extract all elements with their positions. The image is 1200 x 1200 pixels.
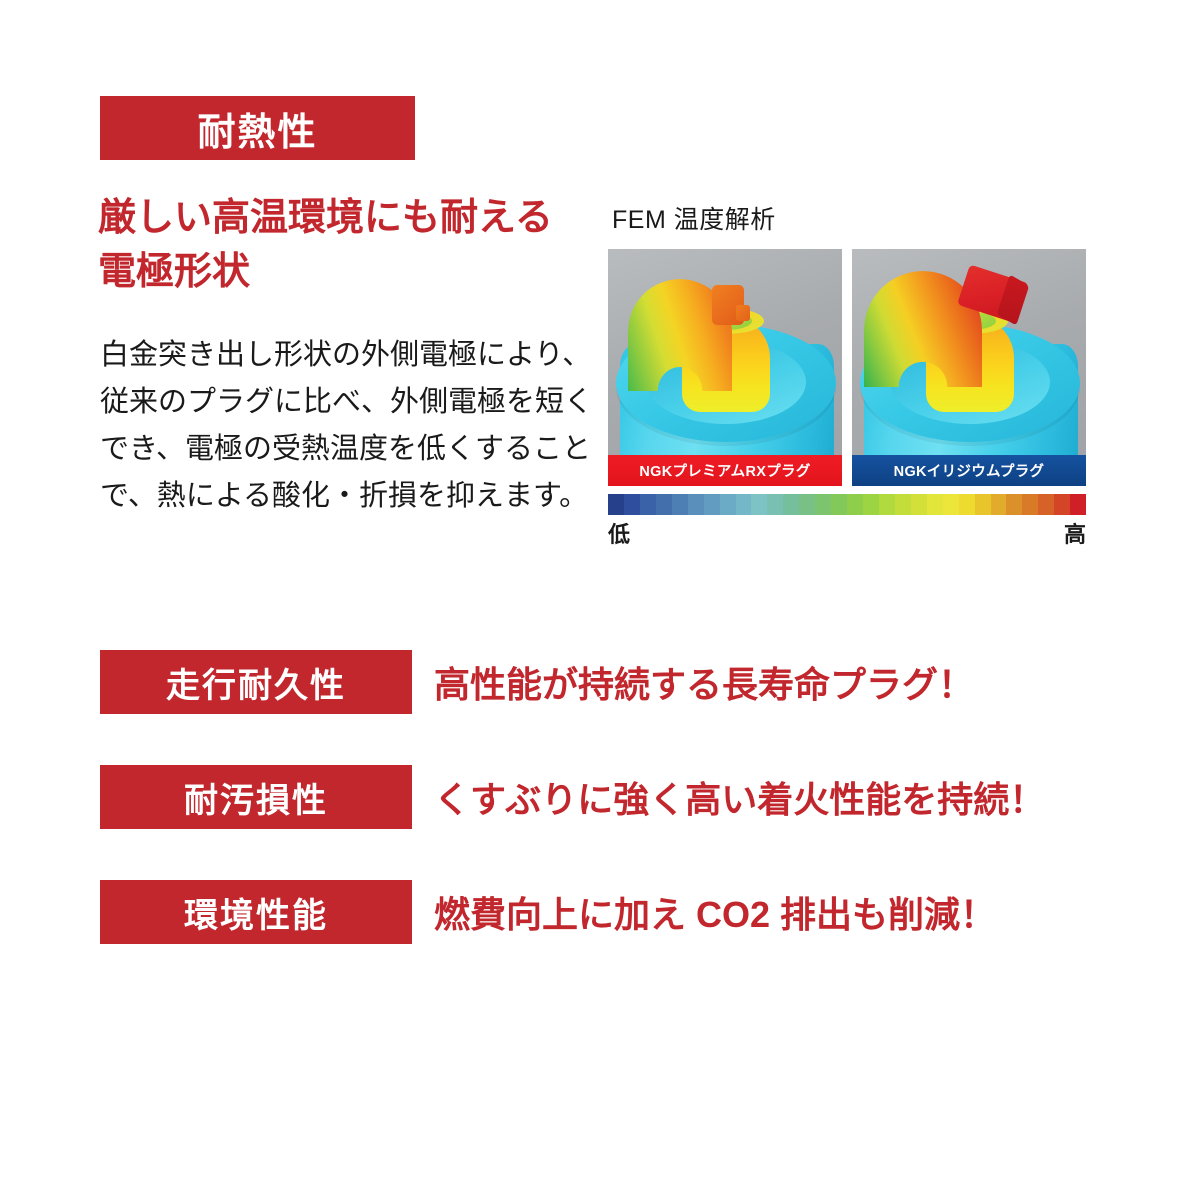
ground-electrode-nub-icon — [736, 305, 750, 321]
fem-panel-premium-rx: NGKプレミアムRXプラグ — [608, 249, 842, 486]
color-scale-segment-6 — [704, 494, 720, 515]
badge-durability: 走行耐久性 — [100, 650, 412, 714]
color-scale-segment-15 — [847, 494, 863, 515]
color-scale-segment-26 — [1022, 494, 1038, 515]
feature-row-environmental: 環境性能 燃費向上に加え CO2 排出も削減！ — [100, 880, 1060, 944]
badge-heat-resistance: 耐熱性 — [100, 96, 415, 160]
color-scale-segment-4 — [672, 494, 688, 515]
color-scale-segment-14 — [831, 494, 847, 515]
fem-analysis-block: FEM 温度解析 NGKプレミアムRXプラグ — [608, 200, 1086, 549]
color-scale-segment-1 — [624, 494, 640, 515]
color-scale-segment-25 — [1006, 494, 1022, 515]
color-scale-segment-7 — [720, 494, 736, 515]
section-heading: 厳しい高温環境にも耐える 電極形状 — [98, 192, 568, 300]
color-scale-segment-11 — [783, 494, 799, 515]
color-scale-segment-28 — [1054, 494, 1070, 515]
color-scale-segment-3 — [656, 494, 672, 515]
scale-label-low: 低 — [608, 517, 630, 549]
color-scale-segment-10 — [767, 494, 783, 515]
color-scale-segment-16 — [863, 494, 879, 515]
feature-row-durability: 走行耐久性 高性能が持続する長寿命プラグ！ — [100, 650, 1060, 714]
badge-environmental: 環境性能 — [100, 880, 412, 944]
section-heading-line-1: 厳しい高温環境にも耐える — [98, 192, 568, 246]
color-scale-segment-18 — [895, 494, 911, 515]
color-scale-segment-23 — [975, 494, 991, 515]
color-scale-segment-2 — [640, 494, 656, 515]
feature-row-fouling-resistance: 耐汚損性 くすぶりに強く高い着火性能を持続！ — [100, 765, 1060, 829]
scale-label-high: 高 — [1064, 517, 1086, 549]
fem-caption-iridium: NGKイリジウムプラグ — [852, 455, 1086, 486]
temperature-color-scale — [608, 494, 1086, 515]
color-scale-segment-24 — [991, 494, 1007, 515]
fem-panel-iridium: NGKイリジウムプラグ — [852, 249, 1086, 486]
color-scale-segment-21 — [943, 494, 959, 515]
color-scale-segment-13 — [815, 494, 831, 515]
color-scale-segment-5 — [688, 494, 704, 515]
badge-fouling-resistance: 耐汚損性 — [100, 765, 412, 829]
temperature-scale-labels: 低 高 — [608, 517, 1086, 549]
fem-title: FEM 温度解析 — [612, 200, 1086, 236]
color-scale-segment-8 — [736, 494, 752, 515]
feature-text-durability: 高性能が持続する長寿命プラグ！ — [434, 656, 974, 708]
color-scale-segment-22 — [959, 494, 975, 515]
color-scale-segment-0 — [608, 494, 624, 515]
body-line-2: 従来のプラグに比べ、外側電極を短く — [100, 379, 586, 426]
color-scale-segment-12 — [799, 494, 815, 515]
fem-caption-premium-rx: NGKプレミアムRXプラグ — [608, 455, 842, 486]
color-scale-segment-19 — [911, 494, 927, 515]
color-scale-segment-29 — [1070, 494, 1086, 515]
fem-panel-group: NGKプレミアムRXプラグ NGKイリジウムプラグ — [608, 249, 1086, 486]
color-scale-segment-27 — [1038, 494, 1054, 515]
color-scale-segment-17 — [879, 494, 895, 515]
color-scale-segment-20 — [927, 494, 943, 515]
body-line-1: 白金突き出し形状の外側電極により、 — [100, 332, 586, 379]
feature-text-fouling-resistance: くすぶりに強く高い着火性能を持続！ — [434, 771, 1045, 823]
body-paragraph: 白金突き出し形状の外側電極により、 従来のプラグに比べ、外側電極を短く でき、電… — [100, 332, 586, 520]
section-heading-line-2: 電極形状 — [98, 246, 568, 300]
body-line-4: で、熱による酸化・折損を抑えます。 — [100, 473, 586, 520]
feature-text-environmental: 燃費向上に加え CO2 排出も削減！ — [434, 886, 996, 938]
color-scale-segment-9 — [751, 494, 767, 515]
body-line-3: でき、電極の受熱温度を低くすること — [100, 426, 586, 473]
